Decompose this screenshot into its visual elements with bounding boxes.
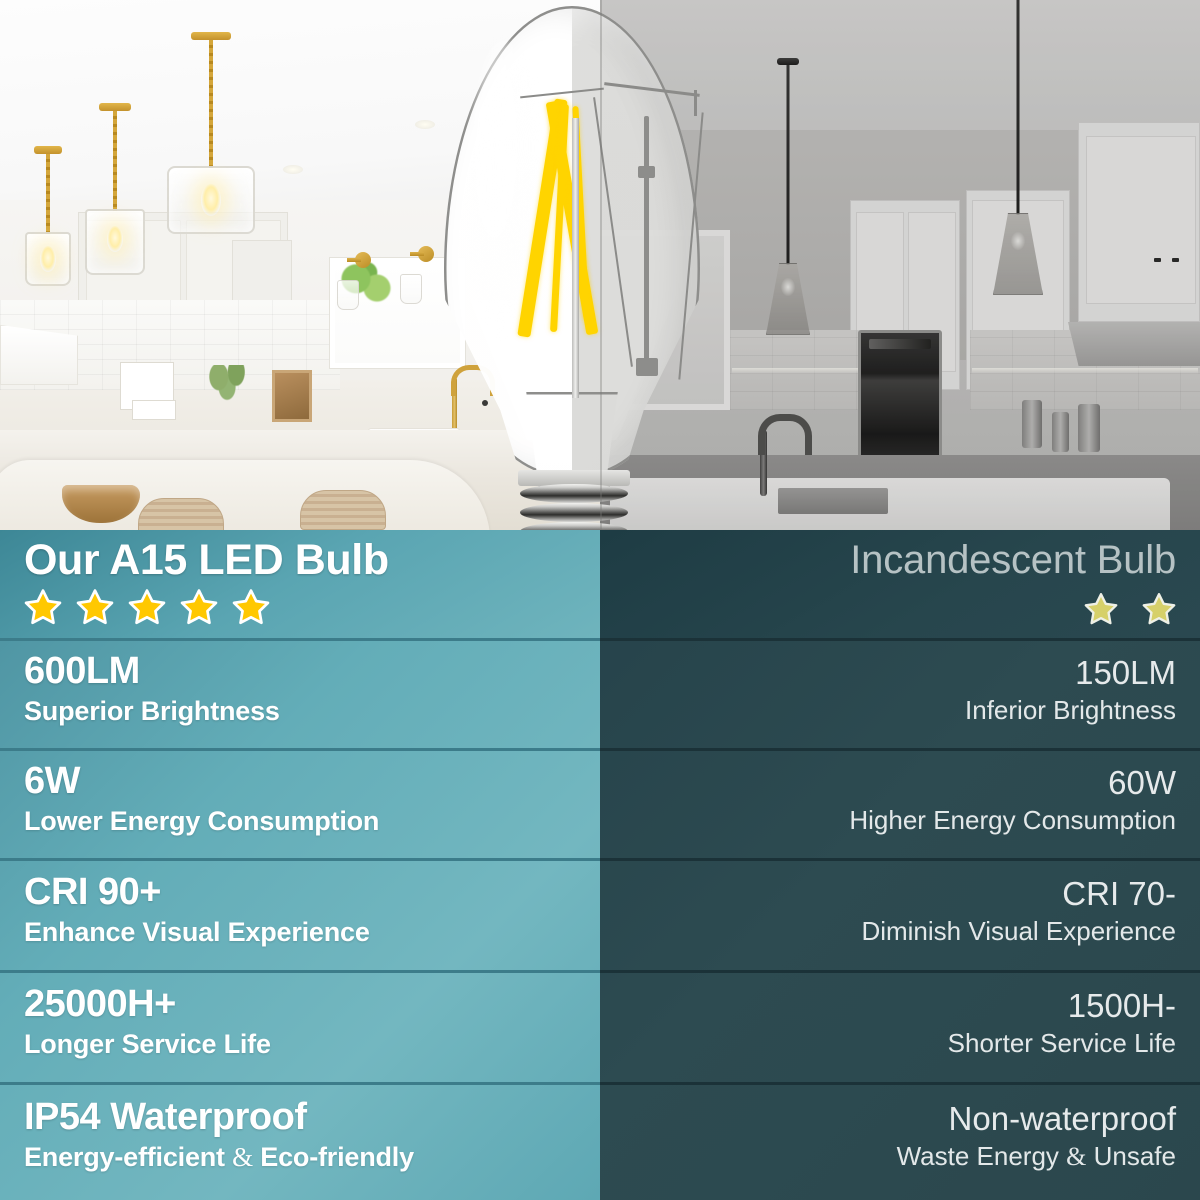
- screw-thread: [520, 484, 628, 503]
- led-label-part1: Energy-efficient: [24, 1142, 225, 1172]
- incandescent-label: Shorter Service Life: [948, 1029, 1176, 1059]
- incandescent-filament: [644, 116, 649, 366]
- incandescent-value: 150LM: [965, 656, 1176, 691]
- table-row: 6W Lower Energy Consumption 60W Higher E…: [0, 748, 1200, 858]
- incandescent-column-title: Incandescent Bulb: [850, 538, 1176, 583]
- star-icon: [1142, 592, 1176, 626]
- table-header-row: Our A15 LED Bulb Incandescent Bulb: [0, 530, 1200, 638]
- led-cell: 600LM Superior Brightness: [24, 652, 280, 727]
- led-cell: CRI 90+ Enhance Visual Experience: [24, 873, 370, 948]
- filament-mount: [636, 358, 658, 376]
- incandescent-rating-stars: [1084, 592, 1176, 626]
- led-cell: 25000H+ Longer Service Life: [24, 985, 271, 1060]
- led-label-part2: Eco-friendly: [260, 1142, 414, 1172]
- incandescent-label: Inferior Brightness: [965, 696, 1176, 726]
- incandescent-cell: CRI 70- Diminish Visual Experience: [861, 877, 1176, 947]
- led-column-title: Our A15 LED Bulb: [24, 536, 389, 585]
- led-label: Longer Service Life: [24, 1029, 271, 1060]
- row-divider: [0, 970, 1200, 973]
- led-rating-stars: [24, 588, 270, 626]
- screw-thread: [520, 503, 628, 522]
- led-label: Superior Brightness: [24, 696, 280, 727]
- led-label: Enhance Visual Experience: [24, 917, 370, 948]
- comparison-table: Our A15 LED Bulb Incandescent Bulb 600LM…: [0, 530, 1200, 1200]
- incandescent-cell: 150LM Inferior Brightness: [965, 656, 1176, 726]
- incandescent-value: 1500H-: [948, 989, 1176, 1024]
- led-cell: 6W Lower Energy Consumption: [24, 762, 379, 837]
- table-row: CRI 90+ Enhance Visual Experience CRI 70…: [0, 858, 1200, 970]
- led-value: 6W: [24, 762, 379, 802]
- led-value: CRI 90+: [24, 873, 370, 913]
- star-icon: [24, 588, 62, 626]
- row-divider: [0, 1082, 1200, 1085]
- led-label: Energy-efficient & Eco-friendly: [24, 1142, 414, 1173]
- star-icon: [76, 588, 114, 626]
- before-after-split-line: [600, 0, 602, 530]
- led-value: 600LM: [24, 652, 280, 692]
- star-icon: [232, 588, 270, 626]
- star-icon: [180, 588, 218, 626]
- split-bulb-illustration: [0, 0, 1200, 530]
- table-row: 600LM Superior Brightness 150LM Inferior…: [0, 638, 1200, 748]
- product-comparison-infographic: Our A15 LED Bulb Incandescent Bulb 600LM…: [0, 0, 1200, 1200]
- led-cell: IP54 Waterproof Energy-efficient & Eco-f…: [24, 1098, 414, 1173]
- e26-screw-base: [518, 470, 630, 530]
- incandescent-cell: 1500H- Shorter Service Life: [948, 989, 1176, 1059]
- incandescent-value: CRI 70-: [861, 877, 1176, 912]
- led-value: 25000H+: [24, 985, 271, 1025]
- incandescent-value: 60W: [849, 766, 1176, 801]
- star-icon: [1084, 592, 1118, 626]
- table-row: IP54 Waterproof Energy-efficient & Eco-f…: [0, 1082, 1200, 1200]
- incandescent-value: Non-waterproof: [897, 1102, 1176, 1137]
- filament-clamp: [638, 166, 655, 178]
- ampersand-glyph: &: [1066, 1142, 1086, 1171]
- row-divider: [0, 858, 1200, 861]
- filament-support-wire: [694, 90, 697, 116]
- incandescent-label: Diminish Visual Experience: [861, 917, 1176, 947]
- incandescent-cell: Non-waterproof Waste Energy & Unsafe: [897, 1102, 1176, 1172]
- ampersand-glyph: &: [232, 1142, 253, 1172]
- incandescent-cell: 60W Higher Energy Consumption: [849, 766, 1176, 836]
- led-value: IP54 Waterproof: [24, 1098, 414, 1138]
- row-divider: [0, 748, 1200, 751]
- led-label: Lower Energy Consumption: [24, 806, 379, 837]
- glass-stem: [572, 118, 579, 398]
- incandescent-label-part1: Waste Energy: [897, 1141, 1059, 1171]
- incandescent-label: Waste Energy & Unsafe: [897, 1142, 1176, 1172]
- screw-thread: [520, 522, 628, 530]
- incandescent-label: Higher Energy Consumption: [849, 806, 1176, 836]
- hero-photo-area: [0, 0, 1200, 530]
- incandescent-label-part2: Unsafe: [1094, 1141, 1176, 1171]
- row-divider: [0, 638, 1200, 641]
- table-row: 25000H+ Longer Service Life 1500H- Short…: [0, 970, 1200, 1082]
- star-icon: [128, 588, 166, 626]
